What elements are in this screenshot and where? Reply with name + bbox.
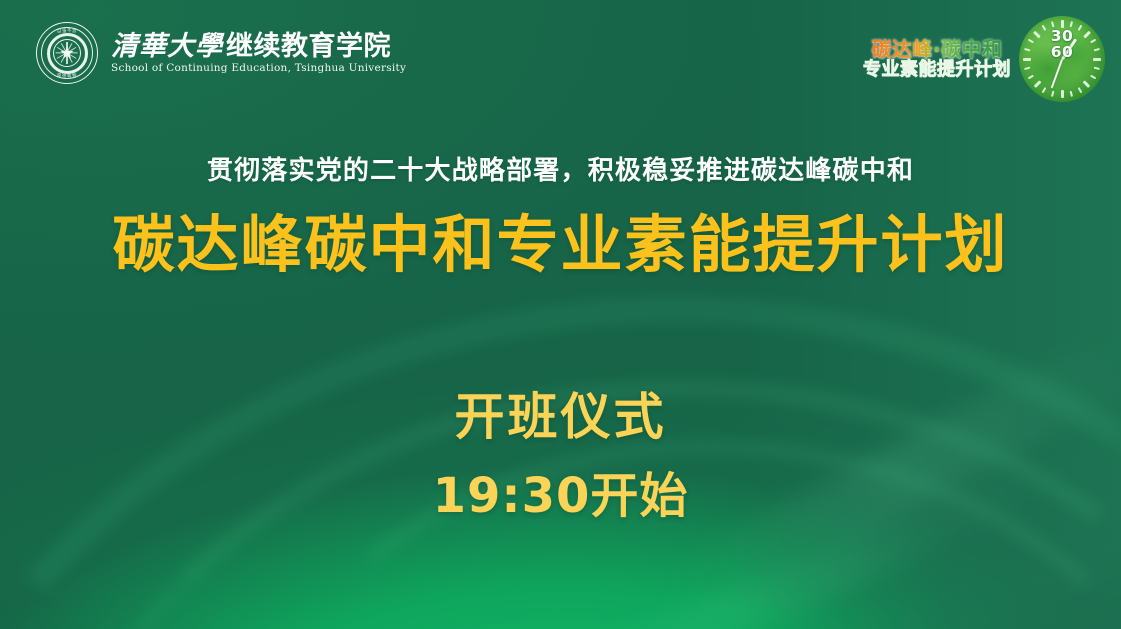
session-label: 开班仪式 bbox=[0, 387, 1121, 447]
programme-badge: 碳达峰·碳中和 专业素能提升计划 3060 bbox=[863, 16, 1105, 102]
goal-number-60: 60 bbox=[1051, 43, 1074, 61]
institution-name-block: 清華大學继续教育学院 School of Continuing Educatio… bbox=[111, 33, 406, 73]
programme-badge-wordmark: 碳达峰·碳中和 专业素能提升计划 bbox=[863, 39, 1011, 80]
institution-name-cn: 清華大學继续教育学院 bbox=[111, 33, 406, 61]
slide-eyebrow: 贯彻落实党的二十大战略部署，积极稳妥推进碳达峰碳中和 bbox=[0, 156, 1121, 187]
institution-name-cn-brush: 清華大學 bbox=[111, 31, 223, 62]
programme-badge-line1: 碳达峰·碳中和 bbox=[871, 39, 1002, 60]
institution-name-en: School of Continuing Education, Tsinghua… bbox=[111, 63, 406, 74]
seal-bottom-text: 厚德載物 bbox=[37, 73, 97, 79]
tsinghua-university-seal-icon: 自強不息 厚德載物 bbox=[36, 22, 98, 84]
institution-name-cn-rest: 继续教育学院 bbox=[226, 31, 391, 62]
programme-badge-line2: 专业素能提升计划 bbox=[863, 61, 1011, 80]
seal-top-text: 自強不息 bbox=[37, 28, 97, 34]
green-globe-clock-icon: 3060 bbox=[1019, 16, 1105, 102]
dual-carbon-goal-numbers: 3060 bbox=[1019, 29, 1105, 61]
tsinghua-logo-lockup: 自強不息 厚德載物 清華大學继续教育学院 School of Continuin… bbox=[36, 22, 406, 84]
start-time-label: 19:30开始 bbox=[0, 468, 1121, 526]
title-slide: 自強不息 厚德載物 清華大學继续教育学院 School of Continuin… bbox=[0, 0, 1121, 629]
slide-headline: 碳达峰碳中和专业素能提升计划 bbox=[0, 208, 1121, 282]
